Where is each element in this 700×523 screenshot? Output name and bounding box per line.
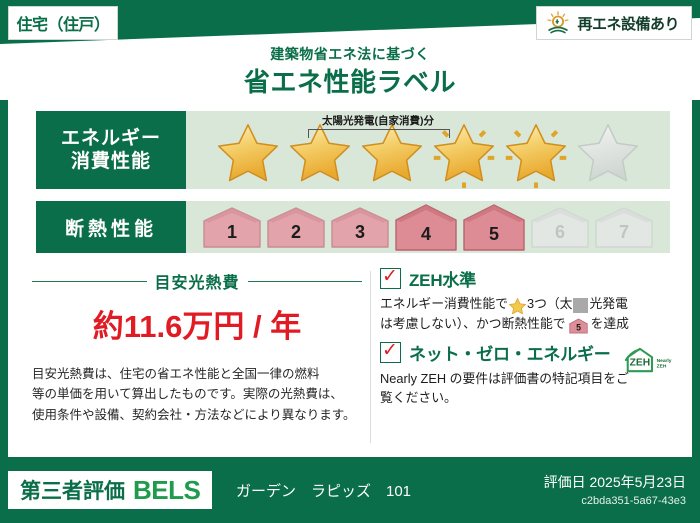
utility-cost-note-line1: 目安光熱費は、住宅の省エネ性能と全国一律の燃料 [32,364,362,384]
net-zero-heading: ✓ ネット・ゼロ・エネルギー ZEH Nearly ZEH [380,340,680,366]
evaluation-id: c2bda351-5a67-43e3 [544,495,686,507]
zeh-standard-text-e: を達成 [591,314,629,334]
utility-cost-column: 目安光熱費 約11.6万円 / 年 目安光熱費は、住宅の省エネ性能と全国一律の燃… [32,265,362,425]
insulation-grade-active: 4 [393,202,459,252]
energy-performance-label: 住宅（住戸） 再エネ設備あり 建築物省エネ法に基づく 省エネ性能ラベル エネルギ… [0,0,700,523]
net-zero-body: Nearly ZEH の要件は評価書の特記項目をご 覧ください。 [380,369,680,409]
content-card: エネルギー 消費性能 [8,97,692,457]
inline-house-grade-icon: 5 [568,318,589,334]
star-filled [502,122,570,186]
energy-label-line1: エネルギー [61,127,161,150]
zeh-standard-body-line2: は考慮しない）、かつ断熱性能で 5 を達成 [380,314,680,334]
energy-performance-row: エネルギー 消費性能 [36,111,670,189]
zeh-standard-block: ✓ ZEH水準 エネルギー消費性能で 3つ（太 [380,265,680,334]
svg-text:Nearly: Nearly [656,358,671,364]
inline-star-icon [509,298,526,314]
insulation-grade-active: 5 [461,202,527,252]
bels-plate: 第三者評価 BELS [8,471,212,509]
insulation-grade-number: 5 [461,224,527,245]
heading-rule-left [32,281,147,282]
house-type-badge: 住宅（住戸） [8,6,118,40]
utility-cost-note-line2: 等の単価を用いて算出したものです。実際の光熱費は、 [32,384,362,404]
zeh-column: ✓ ZEH水準 エネルギー消費性能で 3つ（太 [380,265,680,414]
zeh-standard-text-b: 3つ（太 [527,294,573,314]
zeh-standard-heading: ✓ ZEH水準 [380,265,680,291]
solar-sun-icon [545,11,571,35]
insulation-performance-label: 断熱性能 [36,201,186,253]
utility-cost-value: 約11.6万円 / 年 [32,301,362,346]
insulation-performance-row: 断熱性能 1 2 3 4 5 [36,201,670,253]
utility-cost-heading: 目安光熱費 [32,269,362,293]
net-zero-body-line2: 覧ください。 [380,388,680,408]
energy-performance-label: エネルギー 消費性能 [36,111,186,189]
insulation-grade-number: 1 [201,222,263,243]
svg-text:5: 5 [576,322,581,332]
insulation-grade-number: 2 [265,222,327,243]
star-rating-group [186,111,670,189]
lower-section: 目安光熱費 約11.6万円 / 年 目安光熱費は、住宅の省エネ性能と全国一律の燃… [8,265,692,455]
label-title: 省エネ性能ラベル [0,62,700,99]
insulation-grade-active: 3 [329,205,391,249]
zeh-standard-body: エネルギー消費性能で 3つ（太 光発電 は考慮しない）、かつ断熱性能 [380,294,680,334]
column-divider [370,271,371,443]
insulation-grade-active: 2 [265,205,327,249]
svg-text:ZEH: ZEH [656,363,666,369]
solar-annotation-bracket [308,129,450,138]
star-filled [214,122,282,186]
net-zero-energy-block: ✓ ネット・ゼロ・エネルギー ZEH Nearly ZEH [380,340,680,409]
star-empty [574,122,642,186]
check-icon: ✓ [382,267,398,286]
net-zero-title: ネット・ゼロ・エネルギー [409,340,611,365]
renewable-energy-badge-label: 再エネ設備あり [577,13,679,34]
zeh-standard-text-c: 光発電 [589,294,627,314]
heading-rule-right [248,281,363,282]
check-icon: ✓ [382,341,398,360]
insulation-grade-inactive: 7 [593,205,655,249]
zeh-standard-text-d: は考慮しない）、かつ断熱性能で [380,314,566,334]
property-name: ガーデン ラピッズ 101 [236,480,411,501]
insulation-grade-number: 7 [593,222,655,243]
net-zero-checkbox[interactable]: ✓ [380,342,401,363]
zeh-standard-body-line1: エネルギー消費性能で 3つ（太 光発電 [380,294,680,314]
energy-label-line2: 消費性能 [71,150,151,173]
insulation-grade-inactive: 6 [529,205,591,249]
utility-cost-note-line3: 使用条件や設備、契約会社・方法などにより異なります。 [32,405,362,425]
insulation-grade-number: 4 [393,224,459,245]
house-type-badge-label: 住宅（住戸） [16,11,109,35]
footer: 第三者評価 BELS ガーデン ラピッズ 101 評価日 2025年5月23日 … [0,463,700,523]
third-party-label: 第三者評価 [20,475,125,505]
evaluation-date: 評価日 2025年5月23日 [544,472,686,492]
insulation-grade-active: 1 [201,205,263,249]
utility-cost-note: 目安光熱費は、住宅の省エネ性能と全国一律の燃料 等の単価を用いて算出したものです… [32,364,362,425]
zeh-standard-text-a: エネルギー消費性能で [380,294,508,314]
bels-logo-text: BELS [133,475,200,506]
svg-text:ZEH: ZEH [629,357,650,368]
zeh-logo-icon: ZEH Nearly ZEH [623,346,671,372]
label-subtitle: 建築物省エネ法に基づく [0,44,700,64]
redacted-block [573,298,588,313]
insulation-grade-number: 6 [529,222,591,243]
insulation-grade-group: 1 2 3 4 5 6 7 [186,201,670,253]
zeh-standard-title: ZEH水準 [409,266,476,291]
evaluation-info: 評価日 2025年5月23日 c2bda351-5a67-43e3 [544,472,686,507]
renewable-energy-badge: 再エネ設備あり [536,6,692,40]
utility-cost-heading-text: 目安光熱費 [155,269,240,293]
zeh-standard-checkbox[interactable]: ✓ [380,268,401,289]
insulation-label-text: 断熱性能 [65,214,157,241]
insulation-grade-number: 3 [329,222,391,243]
